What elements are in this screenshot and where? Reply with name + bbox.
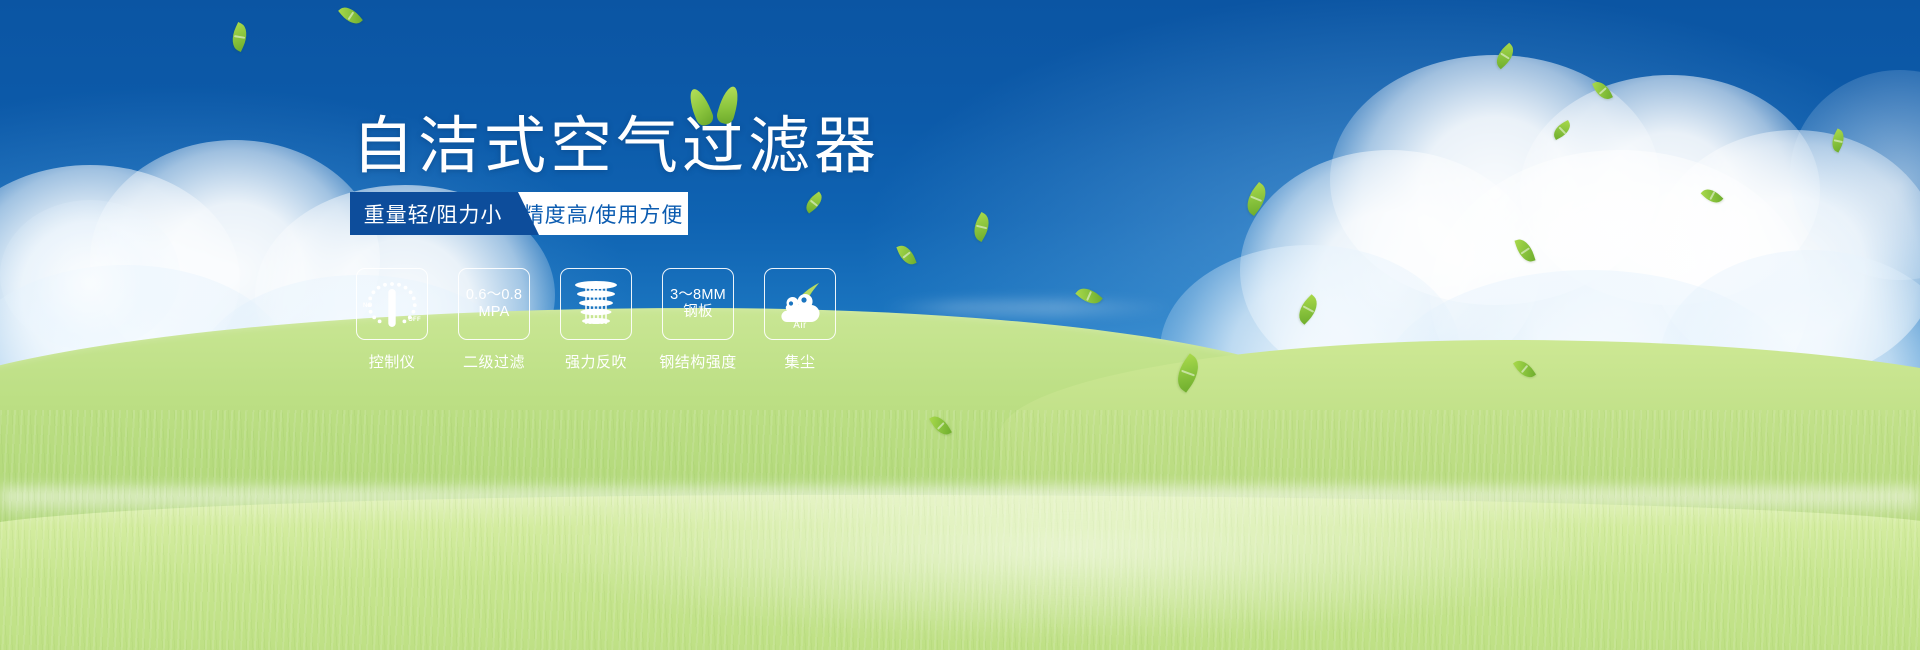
feature-label: 二级过滤 bbox=[463, 351, 525, 372]
feature-item-secondary-filtration: 0.6～0.8 MPA 二级过滤 bbox=[458, 268, 530, 372]
feature-item-strong-backblow: 强力反吹 bbox=[560, 268, 632, 372]
feature-label: 控制仪 bbox=[369, 351, 416, 372]
steel-plate-line1: 3～8MM bbox=[670, 287, 726, 304]
leaf-right-icon bbox=[715, 84, 742, 125]
feature-box: 0.6～0.8 MPA bbox=[458, 268, 530, 340]
green-leaf-pair-icon bbox=[690, 86, 750, 128]
feature-box bbox=[560, 268, 632, 340]
feature-label: 钢结构强度 bbox=[659, 351, 737, 372]
page-title: 自洁式空气过滤器 bbox=[352, 116, 880, 178]
feature-item-control-instrument: NO OFF 控制仪 bbox=[356, 268, 428, 372]
feature-label: 集尘 bbox=[784, 351, 815, 372]
feature-icon-row: NO OFF 控制仪 0.6～0.8 MPA 二级过滤 bbox=[356, 268, 836, 372]
tagline-pill-primary: 重量轻/阻力小 bbox=[350, 192, 518, 235]
hero-banner: 自洁式空气过滤器 重量轻/阻力小 精度高/使用方便 bbox=[0, 0, 1920, 650]
feature-box: NO OFF bbox=[356, 268, 428, 340]
steel-plate-value-icon: 3～8MM 钢板 bbox=[670, 287, 726, 321]
control-dial-icon: NO OFF bbox=[364, 278, 420, 330]
air-label: Air bbox=[775, 320, 825, 331]
pressure-value-line1: 0.6～0.8 bbox=[466, 287, 522, 304]
page-title-text: 自洁式空气过滤器 bbox=[352, 116, 880, 178]
feature-label: 强力反吹 bbox=[565, 351, 627, 372]
feature-item-steel-strength: 3～8MM 钢板 钢结构强度 bbox=[662, 268, 734, 372]
pressure-value-icon: 0.6～0.8 MPA bbox=[466, 287, 522, 321]
pressure-value-line2: MPA bbox=[466, 304, 522, 321]
leaf-left-icon bbox=[686, 86, 716, 128]
air-cloud-icon: Air bbox=[775, 281, 825, 327]
dial-label-left: NO bbox=[363, 303, 373, 309]
dial-label-right: OFF bbox=[408, 317, 421, 323]
feature-item-dust-collection: Air 集尘 bbox=[764, 268, 836, 372]
feature-box: Air bbox=[764, 268, 836, 340]
tagline-group: 重量轻/阻力小 精度高/使用方便 bbox=[350, 192, 688, 235]
coil-backblow-icon bbox=[573, 278, 619, 330]
banner-content: 自洁式空气过滤器 重量轻/阻力小 精度高/使用方便 bbox=[0, 0, 1920, 650]
steel-plate-line2: 钢板 bbox=[670, 304, 726, 321]
feature-box: 3～8MM 钢板 bbox=[662, 268, 734, 340]
